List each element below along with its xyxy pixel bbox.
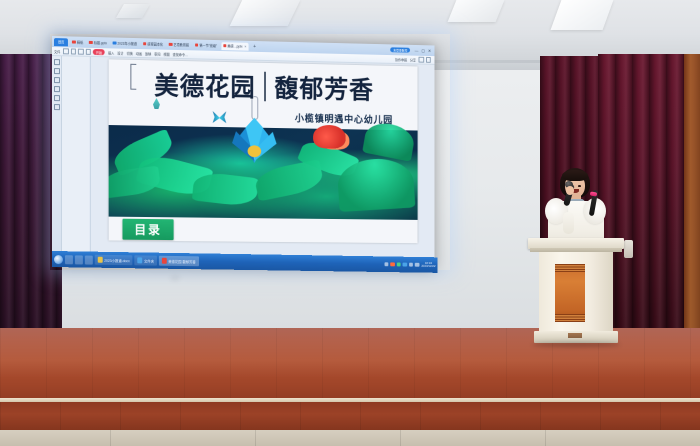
taskbar-item-label: 2023小报道.docx: [104, 257, 130, 262]
taskbar-item-label: 文件夹: [144, 258, 154, 263]
taskbar-item[interactable]: 文件夹: [135, 255, 157, 265]
presentation-icon: [143, 42, 147, 46]
volume-icon[interactable]: [391, 262, 395, 266]
ribbon-tab-design[interactable]: 设计: [117, 50, 123, 55]
undo-icon[interactable]: [78, 49, 83, 55]
account-badge[interactable]: 未登录账号: [390, 47, 410, 52]
tab-label: 第一节"班级": [199, 43, 217, 48]
tab-item[interactable]: 第一节"班级": [193, 41, 219, 50]
redo-icon[interactable]: [85, 49, 90, 55]
tab-home-label: 首页: [58, 39, 64, 44]
tab-item[interactable]: 2023年小报道: [111, 39, 139, 48]
word-icon: [98, 257, 103, 263]
tab-item-active[interactable]: 美德…pptx ×: [221, 42, 248, 51]
lectern: [528, 238, 624, 348]
taskbar-clock[interactable]: 10:34 2023/12/22: [421, 261, 435, 268]
toc-badge[interactable]: 目录: [122, 219, 173, 240]
wall-mark: [170, 275, 180, 281]
tab-label: 稿纸: [77, 40, 83, 45]
presenter-hand: [566, 186, 574, 195]
document-icon: [113, 41, 117, 45]
butterfly-icon: [213, 111, 227, 124]
slide-title-left: 美德花园: [154, 66, 255, 104]
taskbar-item[interactable]: 2023小报道.docx: [95, 255, 133, 266]
maximize-button[interactable]: ▢: [421, 48, 425, 53]
title-divider: [264, 72, 266, 102]
palm-frond-shape: [362, 120, 416, 162]
share-button[interactable]: 分享: [410, 57, 416, 62]
browser-icon[interactable]: [65, 255, 73, 264]
ribbon-tab-slideshow[interactable]: 放映: [145, 51, 151, 56]
slide-title-right: 馥郁芳香: [274, 69, 373, 106]
hall-floor: [0, 430, 700, 446]
shape-tool-icon[interactable]: [53, 77, 59, 83]
tab-label: 2023年小报道: [117, 41, 137, 46]
floor-tile-line: [545, 430, 546, 446]
show-desktop-icon[interactable]: [415, 263, 419, 267]
save-icon[interactable]: [63, 49, 68, 55]
close-button[interactable]: ✕: [428, 48, 431, 53]
taskbar-item-active[interactable]: 美德花园 馥郁芳香: [159, 256, 199, 267]
taskbar-spacer: [201, 261, 383, 264]
tab-label: 标题.pptx: [94, 40, 107, 45]
stage-front-grain: [0, 402, 700, 432]
collaborate-button[interactable]: 协作申报: [395, 57, 407, 62]
ribbon-tab-insert[interactable]: 插入: [108, 50, 114, 55]
search-input[interactable]: 查找命令…: [173, 51, 189, 56]
leaf-shape: [192, 171, 259, 208]
presenter-arm: [563, 212, 574, 234]
ribbon-spacer: [191, 54, 395, 59]
left-tool-rail: [52, 56, 62, 256]
new-tab-button[interactable]: +: [253, 43, 256, 49]
edge-icon[interactable]: [85, 255, 93, 264]
chart-tool-icon[interactable]: [53, 104, 59, 110]
ceiling-light-panel: [116, 4, 150, 18]
presentation-icon: [195, 43, 199, 47]
slide-thumbnail-pane[interactable]: [62, 56, 91, 256]
ribbon-tab-view[interactable]: 视图: [163, 51, 169, 56]
presentation-icon: [169, 43, 173, 47]
floor-tile-line: [255, 430, 256, 446]
tabbar-spacer: [259, 47, 391, 50]
network-icon[interactable]: [385, 262, 389, 266]
image-tool-icon[interactable]: [53, 86, 59, 92]
taskbar-item-label: 美德花园 馥郁芳香: [168, 258, 195, 263]
cloud-icon[interactable]: [403, 262, 407, 266]
ceiling-light-panel: [448, 0, 505, 22]
current-slide[interactable]: 美德花园 馥郁芳香 小榄镇明遇中心幼儿园: [109, 59, 418, 243]
link-tool-icon[interactable]: [53, 95, 59, 101]
ribbon-tab-transition[interactable]: 切换: [126, 50, 132, 55]
presentation-icon: [223, 44, 226, 48]
ribbon-tab-start[interactable]: 开始: [93, 49, 105, 55]
tab-item[interactable]: 标题.pptx: [87, 38, 109, 46]
lotus-svg: [230, 117, 278, 163]
tab-label: 艺境教育报: [173, 42, 189, 47]
auditorium-scene: 首页 稿纸 标题.pptx 2023年小报道 德育园本化 艺境教育报: [0, 0, 700, 446]
folder-icon: [138, 257, 143, 263]
presenter-eye: [578, 185, 581, 187]
lectern-shadow: [532, 342, 620, 347]
clock-date: 2023/12/22: [421, 264, 435, 268]
leaf-shape: [109, 166, 162, 199]
tab-label: 美德…pptx: [227, 43, 242, 48]
presenter-fringe: [562, 170, 588, 181]
lotus-flower-shape: [230, 117, 278, 163]
projection-screen: 首页 稿纸 标题.pptx 2023年小报道 德育园本化 艺境教育报: [52, 36, 435, 270]
input-method-icon[interactable]: [397, 262, 401, 266]
tab-item[interactable]: 艺境教育报: [167, 40, 191, 49]
tab-home[interactable]: 首页: [54, 38, 68, 46]
wps-red-icon: [72, 40, 76, 44]
presentation-icon: [89, 41, 93, 45]
second-microphone-band: [590, 191, 598, 196]
lectern-slats-bottom: [555, 314, 585, 322]
app-workspace: 美德花园 馥郁芳香 小榄镇明遇中心幼儿园: [52, 56, 435, 259]
select-tool-icon[interactable]: [53, 59, 59, 65]
floor-tile-line: [400, 430, 401, 446]
close-icon[interactable]: ×: [244, 44, 246, 48]
ceiling-light-panel: [551, 0, 614, 30]
text-tool-icon[interactable]: [53, 68, 59, 74]
start-button[interactable]: [54, 255, 63, 264]
ribbon-tab-animation[interactable]: 动画: [136, 50, 142, 55]
more-icon[interactable]: [426, 57, 431, 62]
wps-presentation-icon: [162, 258, 167, 264]
settings-icon[interactable]: [419, 57, 424, 62]
print-icon[interactable]: [71, 49, 76, 55]
tab-label: 德育园本化: [147, 41, 163, 46]
slide-artwork: [109, 125, 418, 220]
tab-item[interactable]: 德育园本化: [141, 40, 165, 49]
tab-item[interactable]: 稿纸: [70, 38, 85, 46]
file-menu-button[interactable]: 文件: [54, 49, 60, 54]
wood-trim: [684, 54, 700, 354]
ceiling-light-panel: [230, 0, 301, 26]
ribbon-tab-review[interactable]: 审阅: [154, 51, 160, 56]
minimize-button[interactable]: —: [415, 48, 419, 53]
lectern-plaque: [568, 333, 582, 338]
slide-canvas-area[interactable]: 美德花园 馥郁芳香 小榄镇明遇中心幼儿园: [91, 57, 435, 259]
shield-icon[interactable]: [409, 262, 413, 266]
slide-title-row: 美德花园 馥郁芳香: [109, 65, 418, 107]
red-flower-shape: [313, 125, 345, 149]
lectern-slats-top: [555, 264, 585, 272]
explorer-icon[interactable]: [75, 255, 83, 264]
wall-fixture: [624, 240, 633, 258]
floor-tile-line: [110, 430, 111, 446]
